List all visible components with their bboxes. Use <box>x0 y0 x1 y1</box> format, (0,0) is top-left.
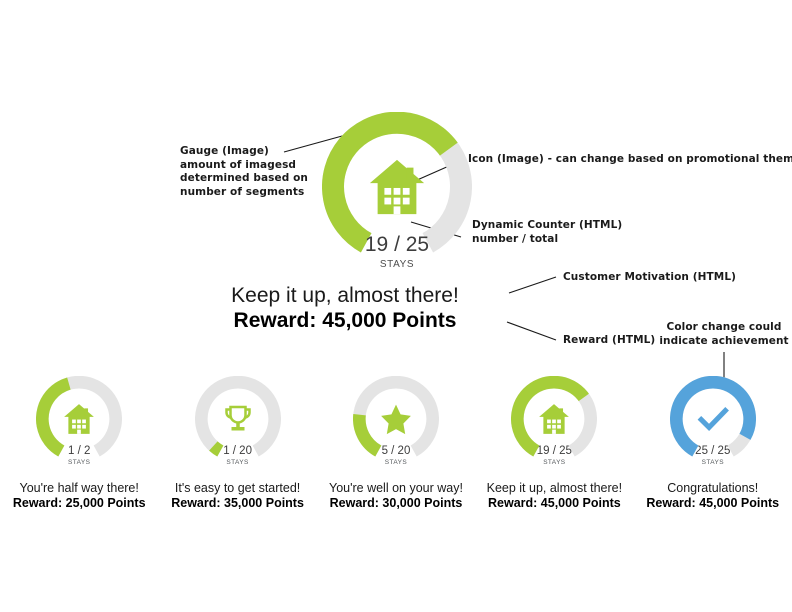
card-progress-gauge <box>195 376 281 462</box>
card-reward-text: Reward: 45,000 Points <box>488 496 621 511</box>
card-icon-wrap <box>195 376 281 462</box>
annotation-gauge: Gauge (Image) amount of imagesd determin… <box>180 145 308 199</box>
annotation-icon: Icon (Image) - can change based on promo… <box>468 153 792 167</box>
card-motivation-text: Keep it up, almost there! <box>487 481 623 496</box>
check-icon <box>695 401 731 437</box>
gauge-state-card: 5 / 20 STAYS You're well on your way! Re… <box>317 376 475 511</box>
hero-counter: 19 / 25 <box>322 233 472 257</box>
leader-line-motivation <box>509 277 556 293</box>
star-icon <box>379 402 413 436</box>
house-icon <box>537 402 571 436</box>
card-motivation-text: You're half way there! <box>20 481 139 496</box>
card-icon-wrap <box>511 376 597 462</box>
gauge-state-card: 25 / 25 STAYS Congratulations! Reward: 4… <box>634 376 792 511</box>
card-icon-wrap <box>353 376 439 462</box>
hero-reward-text: Reward: 45,000 Points <box>180 308 510 333</box>
house-icon <box>62 402 96 436</box>
card-icon-wrap <box>36 376 122 462</box>
hero-unit-label: STAYS <box>322 259 472 270</box>
card-reward-text: Reward: 30,000 Points <box>330 496 463 511</box>
hero-motivation-text: Keep it up, almost there! <box>180 283 510 308</box>
annotation-color-change: Color change could indicate achievement <box>654 321 792 348</box>
card-icon-wrap <box>670 376 756 462</box>
card-reward-text: Reward: 45,000 Points <box>646 496 779 511</box>
card-progress-gauge <box>511 376 597 462</box>
annotation-motivation: Customer Motivation (HTML) <box>563 271 736 285</box>
card-reward-text: Reward: 25,000 Points <box>13 496 146 511</box>
trophy-icon <box>222 403 254 435</box>
annotation-counter: Dynamic Counter (HTML) number / total <box>472 219 622 246</box>
gauge-state-card: 1 / 20 STAYS It's easy to get started! R… <box>158 376 316 511</box>
card-reward-text: Reward: 35,000 Points <box>171 496 304 511</box>
card-motivation-text: Congratulations! <box>667 481 758 496</box>
card-progress-gauge <box>670 376 756 462</box>
house-icon <box>366 156 428 218</box>
card-motivation-text: It's easy to get started! <box>175 481 300 496</box>
card-motivation-text: You're well on your way! <box>329 481 463 496</box>
annotation-reward: Reward (HTML) <box>563 334 655 348</box>
gauge-state-card: 19 / 25 STAYS Keep it up, almost there! … <box>475 376 633 511</box>
card-progress-gauge <box>36 376 122 462</box>
gauge-state-card-row: 1 / 2 STAYS You're half way there! Rewar… <box>0 376 792 511</box>
gauge-state-card: 1 / 2 STAYS You're half way there! Rewar… <box>0 376 158 511</box>
leader-line-reward <box>507 322 556 340</box>
card-progress-gauge <box>353 376 439 462</box>
